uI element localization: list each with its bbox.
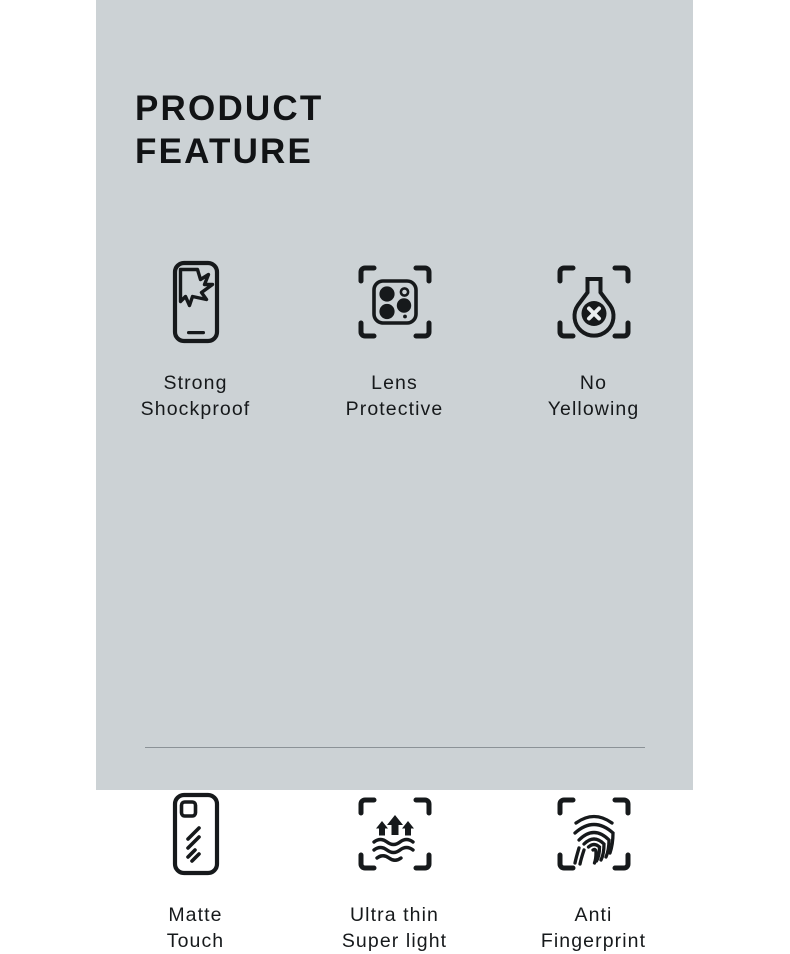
feature-item-anti-fingerprint: Anti Fingerprint (494, 782, 693, 954)
feature-item-ultra-thin-super-light: Ultra thin Super light (295, 782, 494, 954)
cracked-phone-icon (144, 250, 248, 354)
section-divider (96, 747, 693, 748)
fingerprint-bracket-icon (542, 782, 646, 886)
feature-item-no-yellowing: No Yellowing (494, 250, 693, 422)
feature-row-1: Strong Shockproof (96, 250, 693, 422)
camera-lens-bracket-icon (343, 250, 447, 354)
divider-line (145, 747, 645, 748)
content-panel: PRODUCT FEATURE Strong Shockproof (96, 0, 693, 790)
feature-grid: Strong Shockproof (96, 250, 693, 422)
feature-item-matte-touch: Matte Touch (96, 782, 295, 954)
feature-item-strong-shockproof: Strong Shockproof (96, 250, 295, 422)
arrows-waves-lightweight-icon (343, 782, 447, 886)
feature-row-2: Matte Touch (96, 782, 693, 954)
feature-caption: Lens Protective (346, 371, 444, 422)
feature-caption: Ultra thin Super light (342, 903, 447, 954)
feature-caption: Strong Shockproof (141, 371, 251, 422)
no-yellowing-flask-icon (542, 250, 646, 354)
matte-phone-back-icon (144, 782, 248, 886)
feature-caption: Matte Touch (167, 903, 225, 954)
feature-caption: No Yellowing (548, 371, 640, 422)
page-title: PRODUCT FEATURE (135, 88, 323, 173)
feature-item-lens-protective: Lens Protective (295, 250, 494, 422)
feature-caption: Anti Fingerprint (541, 903, 646, 954)
product-feature-page: PRODUCT FEATURE Strong Shockproof (0, 0, 790, 790)
